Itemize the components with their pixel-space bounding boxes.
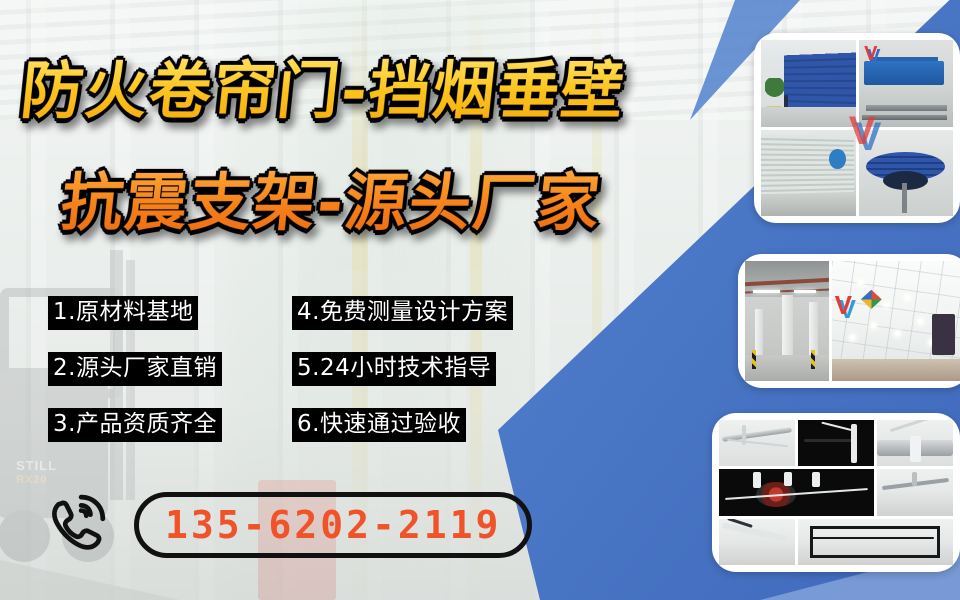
feature-item-4: 4.免费测量设计方案 [292,296,513,330]
photo-steel-frame-brace-room [798,519,953,565]
headline-primary: 防火卷帘门-挡烟垂壁 [17,40,630,130]
photo-black-bg-brace-fitting [798,420,874,466]
phone-number: 135-6202-2119 [165,506,501,544]
collage3-grid [719,420,953,565]
collage-seismic-bracing-works[interactable] [712,413,960,572]
promotional-poster: STILL RX20 [0,0,960,600]
headline-secondary: 抗震支架-源头厂家 [57,152,606,242]
pipe-clamp [910,436,921,462]
lower-wall [832,359,960,381]
feature-item-6: 6.快速通过验收 [292,408,466,442]
hazard-stripe-a [752,350,756,369]
photo-red-fan-brace-assembly [719,469,874,515]
collage-fire-shutter-products[interactable]: V V [754,33,960,223]
collage-project-sites[interactable]: V [738,254,960,388]
downlight-5 [895,331,900,336]
drop-rod-a [753,472,761,488]
feature-list: 1.原材料基地 4.免费测量设计方案 2.源头厂家直销 5.24小时技术指导 3… [48,296,548,464]
photo-ceiling-duct-brace [877,469,953,515]
phone-number-pill[interactable]: 135-6202-2119 [134,492,532,558]
feature-item-5: 5.24小时技术指导 [292,352,496,386]
photo-pipe-clamp-closeup [877,420,953,466]
dark-ceiling-panel [932,314,956,355]
steel-frame [810,526,940,558]
collage2-grid: V [745,261,960,381]
drop-rod-c [812,472,820,487]
photo-steel-rolling-shutter-interior [761,130,856,217]
room-bg [877,490,953,515]
phone-call-icon [44,492,110,558]
steel-bar-a [866,105,947,111]
feature-item-1: 1.原材料基地 [48,296,198,330]
plant [765,78,784,107]
feature-item-3: 3.产品资质齐全 [48,408,222,442]
brace-bar [727,439,788,448]
duct-hanger [912,472,917,486]
garage-lamp-b [794,290,816,294]
garage-floor [745,355,829,381]
photo-white-ceiling-with-downlights: V [832,261,960,381]
steel-bar-b [862,115,947,119]
garage-lamp-a [753,290,780,294]
floor [761,107,856,126]
shutter-slab [784,52,856,112]
collage1-grid: V [761,40,953,216]
hazard-stripe-b [811,350,815,369]
exit-sign [829,149,846,170]
feature-item-2: 2.源头厂家直销 [48,352,222,386]
photo-blue-rolling-shutter-door [761,40,856,127]
support-leg [902,183,907,212]
photo-shutter-roll-forming-machine: V [859,40,954,127]
brace-strut [890,420,936,432]
hanger-rod [742,425,746,445]
room-bg [719,540,795,565]
drop-rod-b [784,472,792,486]
photo-blue-shutter-coil-roll [859,130,954,217]
floor [761,194,856,216]
photo-pipe-brace-ceiling [719,420,795,466]
machine-body [864,61,943,85]
contact-row: 135-6202-2119 [44,492,532,558]
photo-duct-brace-white-room [719,519,795,565]
fitting-pipe [804,439,856,443]
photo-parking-garage-columns [745,261,829,381]
frame-crossbar [810,537,934,539]
support-wire [725,488,867,500]
